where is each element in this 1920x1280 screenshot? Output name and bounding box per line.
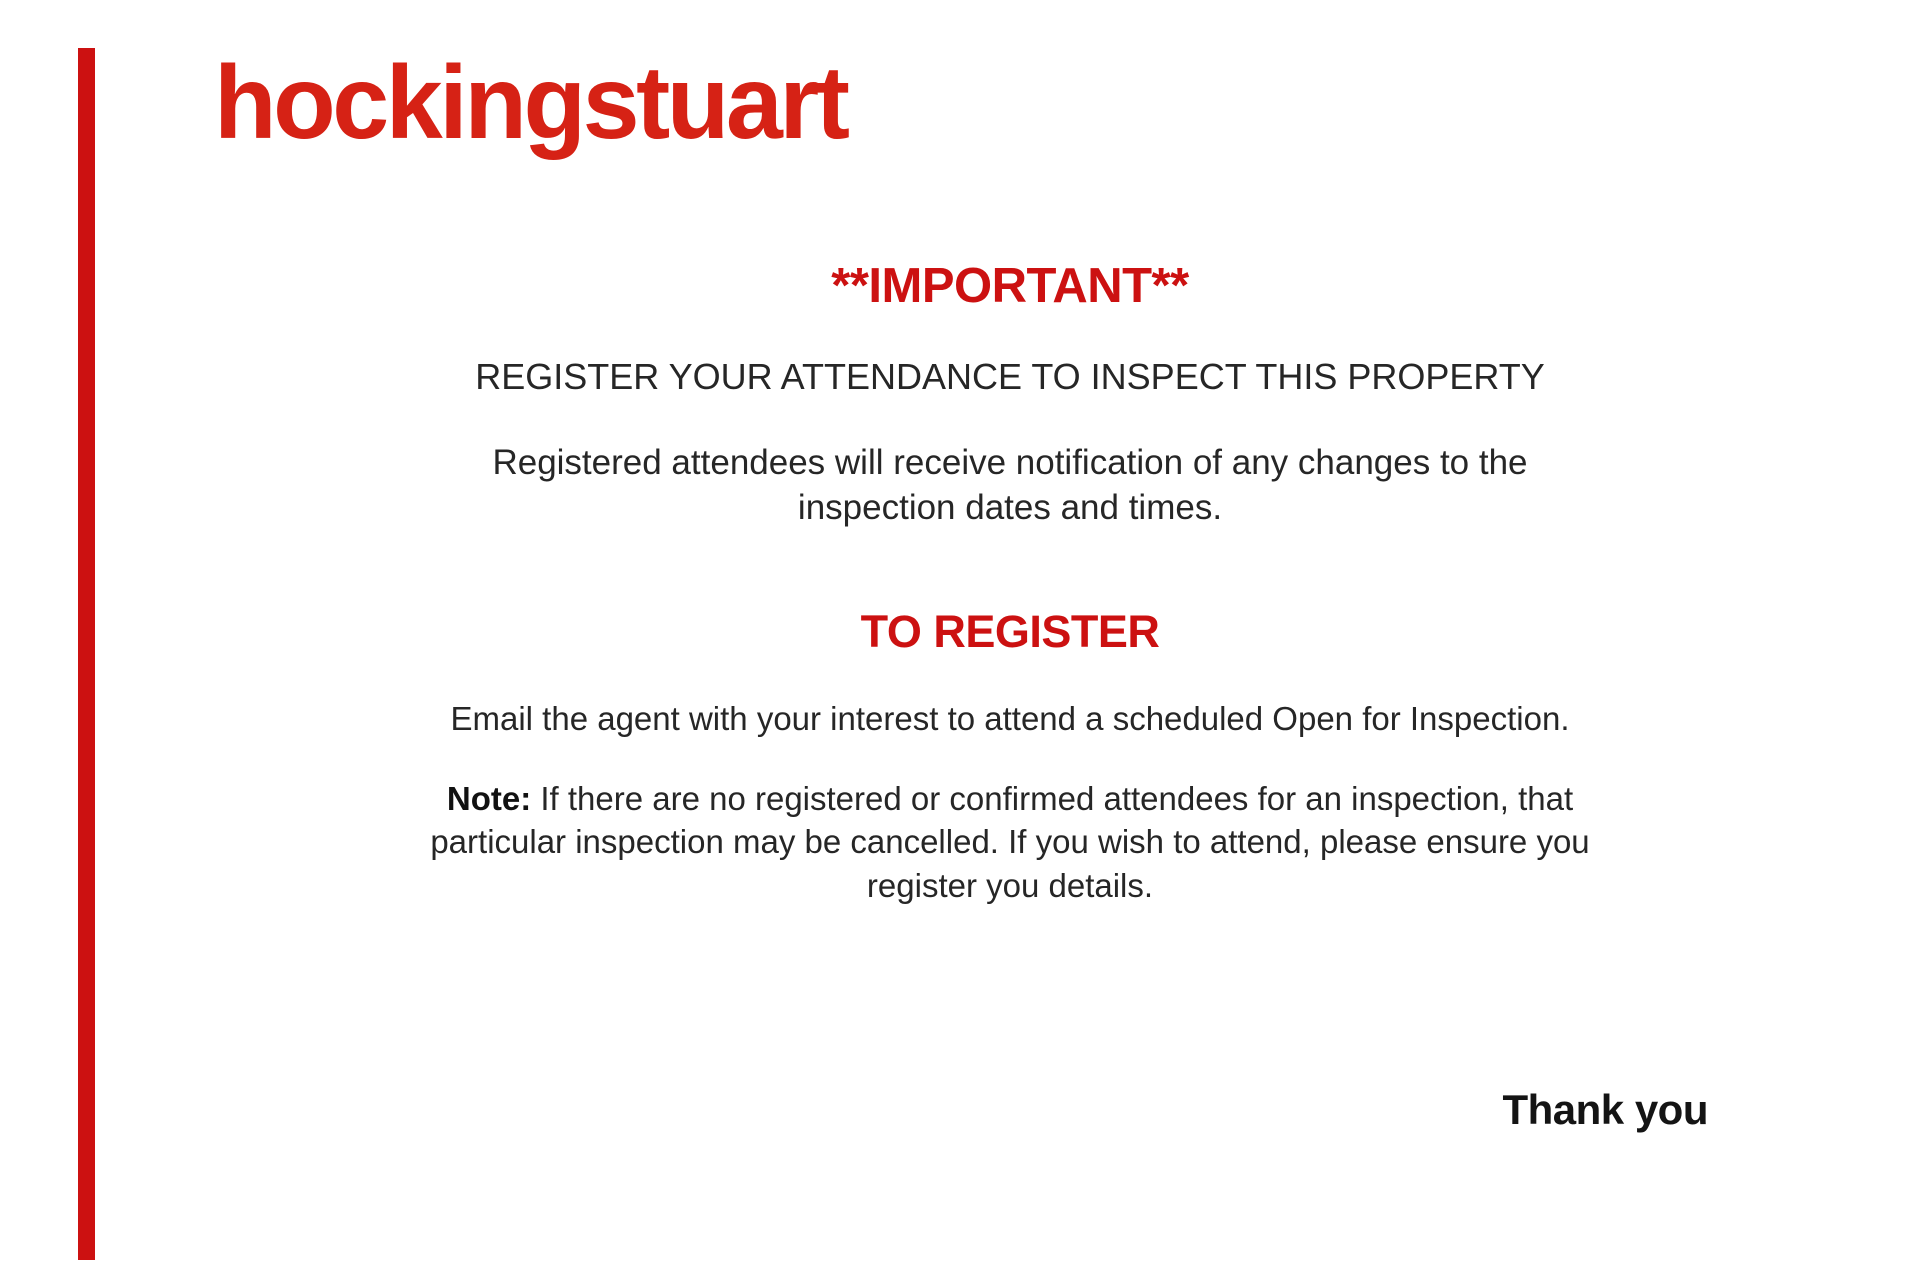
register-attendance-subheading: REGISTER YOUR ATTENDANCE TO INSPECT THIS… xyxy=(120,314,1900,397)
notification-intro-paragraph: Registered attendees will receive notifi… xyxy=(430,397,1590,531)
note-body: If there are no registered or confirmed … xyxy=(430,780,1589,905)
left-accent-bar xyxy=(78,48,95,1260)
important-heading: **IMPORTANT** xyxy=(120,260,1900,314)
thank-you-signoff: Thank you xyxy=(1502,1087,1708,1133)
note-label: Note: xyxy=(447,780,531,817)
to-register-heading: TO REGISTER xyxy=(120,531,1900,657)
brand-logo: hockingstuart xyxy=(214,42,847,165)
note-paragraph: Note: If there are no registered or conf… xyxy=(385,741,1635,909)
main-content: **IMPORTANT** REGISTER YOUR ATTENDANCE T… xyxy=(120,240,1900,908)
slide-canvas: hockingstuart **IMPORTANT** REGISTER YOU… xyxy=(0,0,1920,1280)
email-agent-instruction: Email the agent with your interest to at… xyxy=(120,656,1900,740)
